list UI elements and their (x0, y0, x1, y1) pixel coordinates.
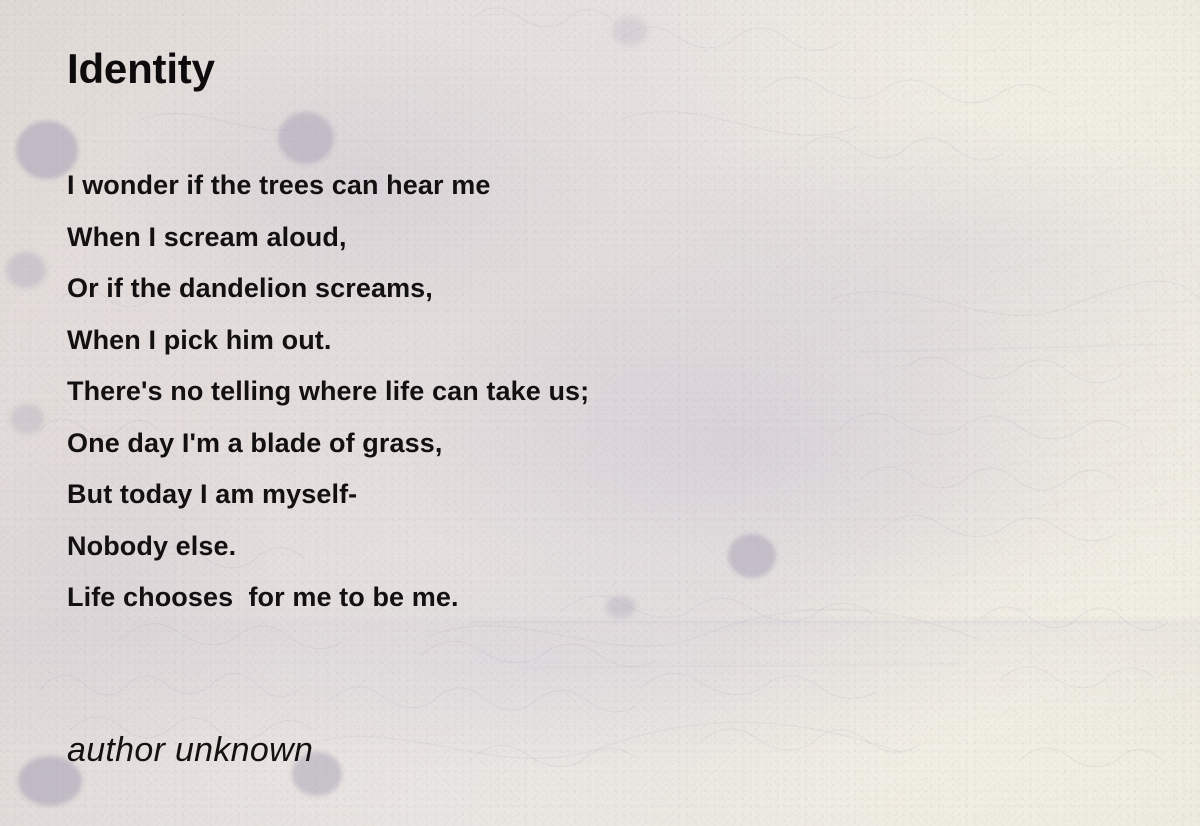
page-title: Identity (67, 48, 215, 90)
author-attribution: author unknown (67, 730, 313, 771)
ink-blot-left-lower (10, 404, 44, 434)
poem-line: One day I'm a blade of grass, (67, 418, 1067, 470)
poem-line: There's no telling where life can take u… (67, 366, 1067, 418)
poem-line: I wonder if the trees can hear me (67, 160, 1067, 212)
poem-page: Identity I wonder if the trees can hear … (0, 0, 1200, 826)
poem-line: When I scream aloud, (67, 212, 1067, 264)
poem-body: I wonder if the trees can hear meWhen I … (67, 160, 1067, 624)
poem-line: Life chooses for me to be me. (67, 572, 1067, 624)
poem-line: When I pick him out. (67, 315, 1067, 367)
poem-text-block: Identity I wonder if the trees can hear … (67, 0, 1127, 826)
poem-line: Nobody else. (67, 521, 1067, 573)
poem-line: But today I am myself- (67, 469, 1067, 521)
poem-line: Or if the dandelion screams, (67, 263, 1067, 315)
ink-blot-left-mid (6, 252, 46, 288)
